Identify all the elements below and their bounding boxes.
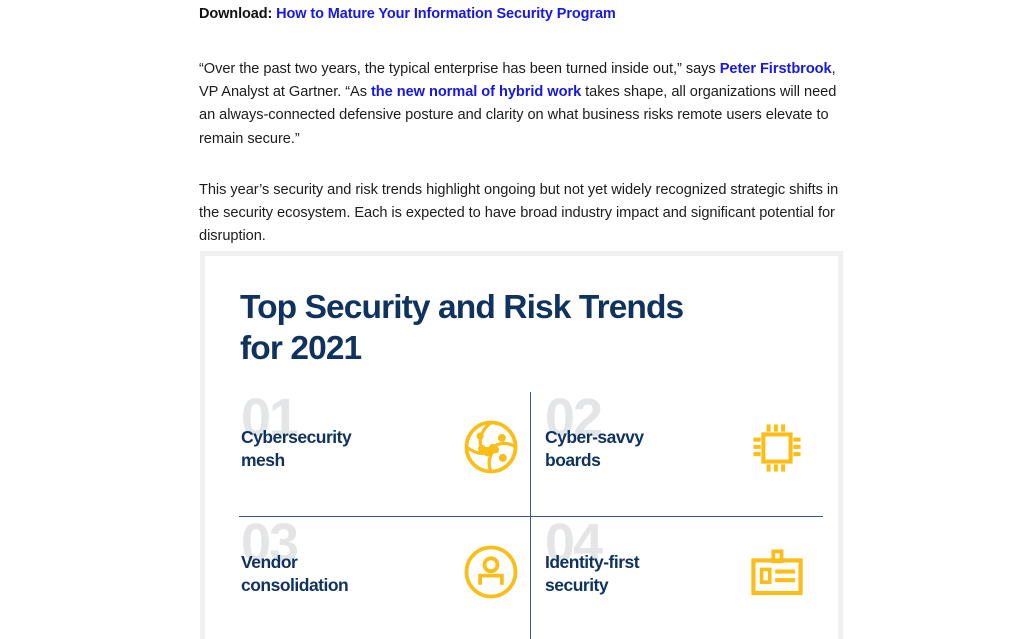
- quote-text-part-1: “Over the past two years, the typical en…: [199, 61, 720, 77]
- download-link[interactable]: How to Mature Your Information Security …: [276, 6, 616, 22]
- infographic-title-line-2: for 2021: [240, 328, 820, 369]
- trend-cell-01: 01 Cybersecurity mesh: [239, 392, 530, 516]
- trend-label-04: Identity-first security: [545, 551, 745, 596]
- trend-label-04-line-2: security: [545, 574, 745, 597]
- trend-cell-04: 04 Identity-first security: [531, 517, 822, 639]
- article-page: Download: How to Mature Your Information…: [0, 0, 1024, 639]
- trend-label-01-line-2: mesh: [241, 449, 441, 472]
- trend-label-01: Cybersecurity mesh: [241, 426, 441, 471]
- infographic-card: Top Security and Risk Trends for 2021 01…: [200, 251, 843, 639]
- network-mesh-icon: [462, 418, 520, 476]
- trend-label-02: Cyber-savvy boards: [545, 426, 745, 471]
- id-badge-icon: [748, 545, 806, 603]
- trend-label-02-line-1: Cyber-savvy: [545, 426, 745, 449]
- trend-label-04-line-1: Identity-first: [545, 551, 745, 574]
- download-line: Download: How to Mature Your Information…: [199, 0, 851, 28]
- infographic-inner: Top Security and Risk Trends for 2021 01…: [205, 256, 838, 639]
- trend-label-03-line-2: consolidation: [241, 574, 441, 597]
- trend-cell-02: 02 Cyber-savvy boards: [531, 392, 822, 516]
- trend-cell-03: 03 Vendor consolidation: [239, 517, 530, 639]
- infographic-title: Top Security and Risk Trends for 2021: [240, 287, 820, 369]
- quote-paragraph: “Over the past two years, the typical en…: [199, 58, 851, 151]
- infographic-title-line-1: Top Security and Risk Trends: [240, 287, 820, 328]
- download-label: Download:: [199, 6, 272, 22]
- trend-label-03-line-1: Vendor: [241, 551, 441, 574]
- article-body: Download: How to Mature Your Information…: [199, 0, 851, 248]
- trend-label-03: Vendor consolidation: [241, 551, 441, 596]
- microchip-icon: [748, 419, 806, 477]
- hybrid-work-link[interactable]: the new normal of hybrid work: [371, 84, 581, 100]
- person-circle-icon: [462, 543, 520, 601]
- trend-label-01-line-1: Cybersecurity: [241, 426, 441, 449]
- trend-label-02-line-2: boards: [545, 449, 745, 472]
- trends-paragraph: This year’s security and risk trends hig…: [199, 179, 851, 249]
- peter-firstbrook-link[interactable]: Peter Firstbrook: [720, 61, 832, 77]
- trends-grid: 01 Cybersecurity mesh: [239, 392, 823, 639]
